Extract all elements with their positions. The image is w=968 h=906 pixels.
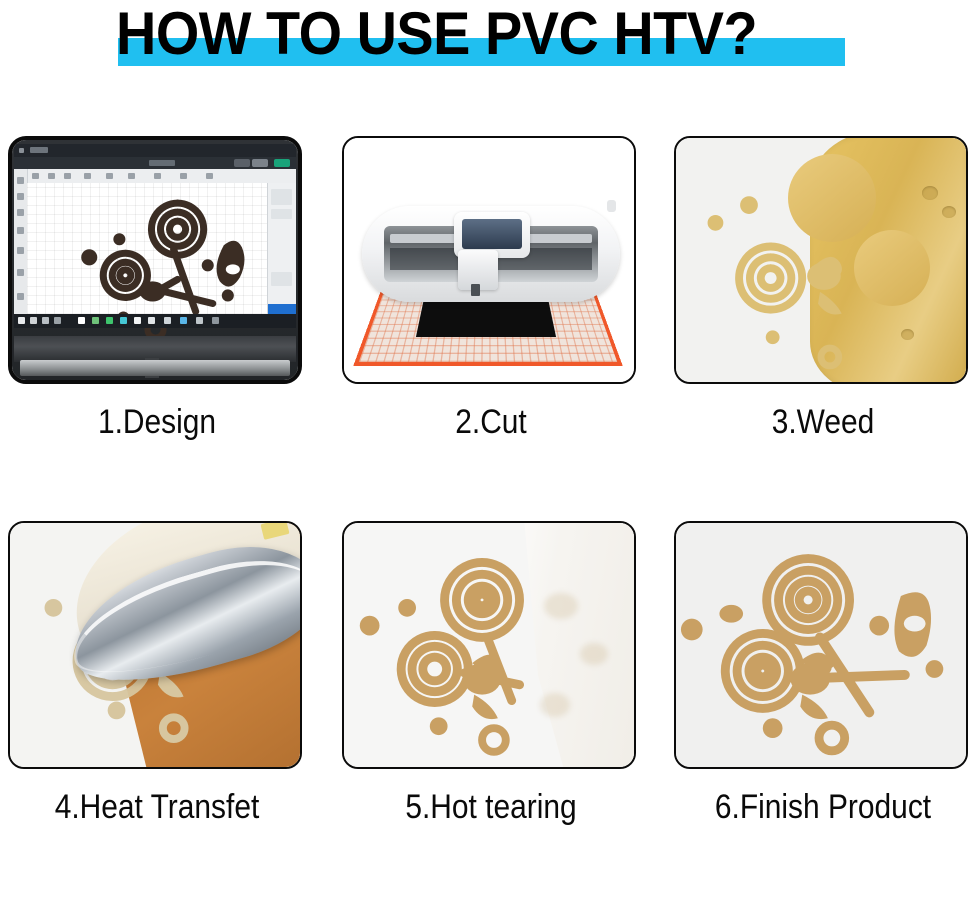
app-icon-4[interactable] <box>106 317 113 324</box>
step-3-label: 3.Weed <box>692 402 954 442</box>
step-4-label: 4.Heat Transfet <box>26 787 288 827</box>
layer-thumb-3[interactable] <box>271 272 292 286</box>
go-button[interactable] <box>274 159 290 167</box>
app-logo-icon <box>19 148 24 153</box>
steps-grid: 1.Design <box>0 136 968 906</box>
cutter-knob[interactable] <box>607 200 616 212</box>
app-icon-1[interactable] <box>54 317 61 324</box>
images-tool-icon[interactable] <box>17 269 24 276</box>
text-tool-icon[interactable] <box>17 193 24 200</box>
app-icon-2[interactable] <box>78 317 85 324</box>
layers-tool-icon[interactable] <box>17 293 24 300</box>
step-3-image <box>674 136 968 384</box>
tool-icon-2[interactable] <box>48 173 55 179</box>
search-icon[interactable] <box>30 317 37 324</box>
software-right-panel <box>267 183 296 314</box>
taskview-icon[interactable] <box>42 317 49 324</box>
step-3-weed: 3.Weed <box>674 136 968 442</box>
monitor-screen <box>14 144 296 328</box>
upload-tool-icon[interactable] <box>17 247 24 254</box>
step-5-label: 5.Hot tearing <box>360 787 622 827</box>
header: HOW TO USE PVC HTV? <box>0 0 968 100</box>
lollipop-artwork-final <box>676 523 966 768</box>
app-icon-6[interactable] <box>134 317 141 324</box>
draw-tool-icon[interactable] <box>17 227 24 234</box>
steps-row-1: 1.Design <box>0 136 968 521</box>
cutter-carriage <box>458 250 498 290</box>
step-5-image <box>342 521 636 769</box>
select-tool-icon[interactable] <box>17 177 24 184</box>
shapes-tool-icon[interactable] <box>17 209 24 216</box>
app-icon-3[interactable] <box>92 317 99 324</box>
finished-product-scene <box>676 523 966 767</box>
app-icon-5[interactable] <box>120 317 127 324</box>
hot-peel-scene <box>344 523 634 767</box>
toolbar-button-2[interactable] <box>252 159 268 167</box>
software-left-toolbar <box>14 169 28 328</box>
step-2-cut: 2.Cut <box>342 136 640 442</box>
app-icon-7[interactable] <box>148 317 155 324</box>
heat-smudge-2 <box>580 643 608 665</box>
step-6-image <box>674 521 968 769</box>
windows-taskbar <box>14 314 296 328</box>
page-title: HOW TO USE PVC HTV? <box>116 2 823 66</box>
start-icon[interactable] <box>18 317 25 324</box>
layer-thumb-1[interactable] <box>271 189 292 205</box>
tool-icon-9[interactable] <box>206 173 213 179</box>
document-tab[interactable] <box>149 160 175 166</box>
heat-smudge-1 <box>544 593 578 619</box>
app-title-label <box>30 147 48 153</box>
iron-scene <box>10 523 300 767</box>
step-4-heat-transfer: 4.Heat Transfet <box>8 521 306 827</box>
step-4-image <box>8 521 302 769</box>
cutter-touchscreen[interactable] <box>462 219 522 249</box>
step-2-label: 2.Cut <box>360 402 622 442</box>
weeding-scene <box>676 138 966 382</box>
step-1-label: 1.Design <box>26 402 288 442</box>
tool-icon-8[interactable] <box>180 173 187 179</box>
cutter-blade <box>471 284 480 296</box>
software-toolbar <box>14 169 296 184</box>
monitor-stand-base <box>20 360 290 376</box>
tool-icon-4[interactable] <box>84 173 91 179</box>
monitor-scene <box>12 140 298 380</box>
toolbar-button-1[interactable] <box>234 159 250 167</box>
app-icon-8[interactable] <box>164 317 171 324</box>
step-6-label: 6.Finish Product <box>692 787 954 827</box>
app-icon-11[interactable] <box>212 317 219 324</box>
lollipop-artwork-weeded <box>676 138 966 383</box>
design-canvas[interactable] <box>27 183 268 314</box>
app-icon-9[interactable] <box>180 317 187 324</box>
layer-thumb-2[interactable] <box>271 209 292 219</box>
step-1-image <box>8 136 302 384</box>
cutting-machine-scene <box>344 138 634 382</box>
steps-row-2: 4.Heat Transfet <box>0 521 968 906</box>
make-it-button[interactable] <box>268 304 296 314</box>
step-1-design: 1.Design <box>8 136 306 442</box>
software-tabbar <box>14 157 296 169</box>
software-titlebar <box>14 144 296 157</box>
step-2-image <box>342 136 636 384</box>
app-icon-10[interactable] <box>196 317 203 324</box>
tool-icon-6[interactable] <box>128 173 135 179</box>
heat-smudge-3 <box>540 693 570 717</box>
step-5-hot-tearing: 5.Hot tearing <box>342 521 640 827</box>
tool-icon-7[interactable] <box>154 173 161 179</box>
tool-icon-3[interactable] <box>64 173 71 179</box>
tool-icon-1[interactable] <box>32 173 39 179</box>
tool-icon-5[interactable] <box>106 173 113 179</box>
step-6-finish-product: 6.Finish Product <box>674 521 968 827</box>
